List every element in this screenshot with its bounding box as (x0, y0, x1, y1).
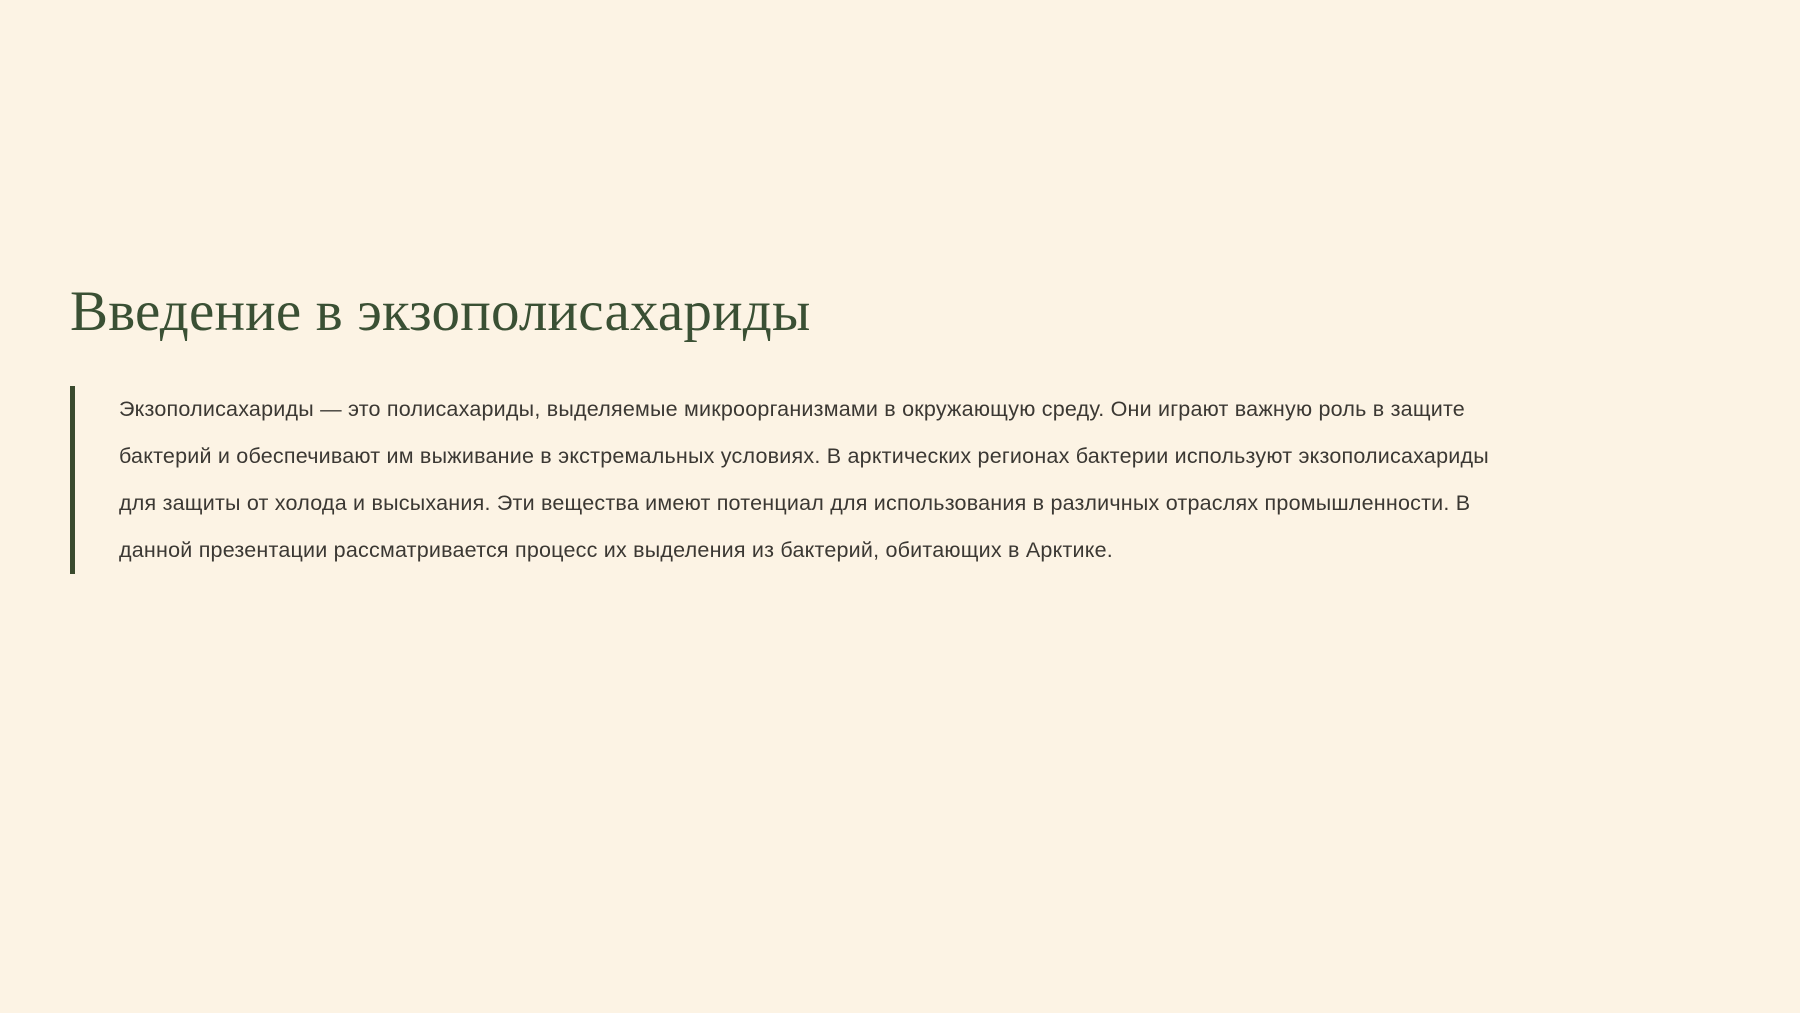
presentation-slide: Введение в экзополисахариды Экзополисаха… (0, 0, 1800, 1013)
slide-body-paragraph: Экзополисахариды — это полисахариды, выд… (75, 386, 1519, 574)
slide-title: Введение в экзополисахариды (70, 280, 1730, 344)
slide-content-container: Введение в экзополисахариды Экзополисаха… (70, 280, 1730, 574)
body-block: Экзополисахариды — это полисахариды, выд… (70, 386, 1730, 574)
